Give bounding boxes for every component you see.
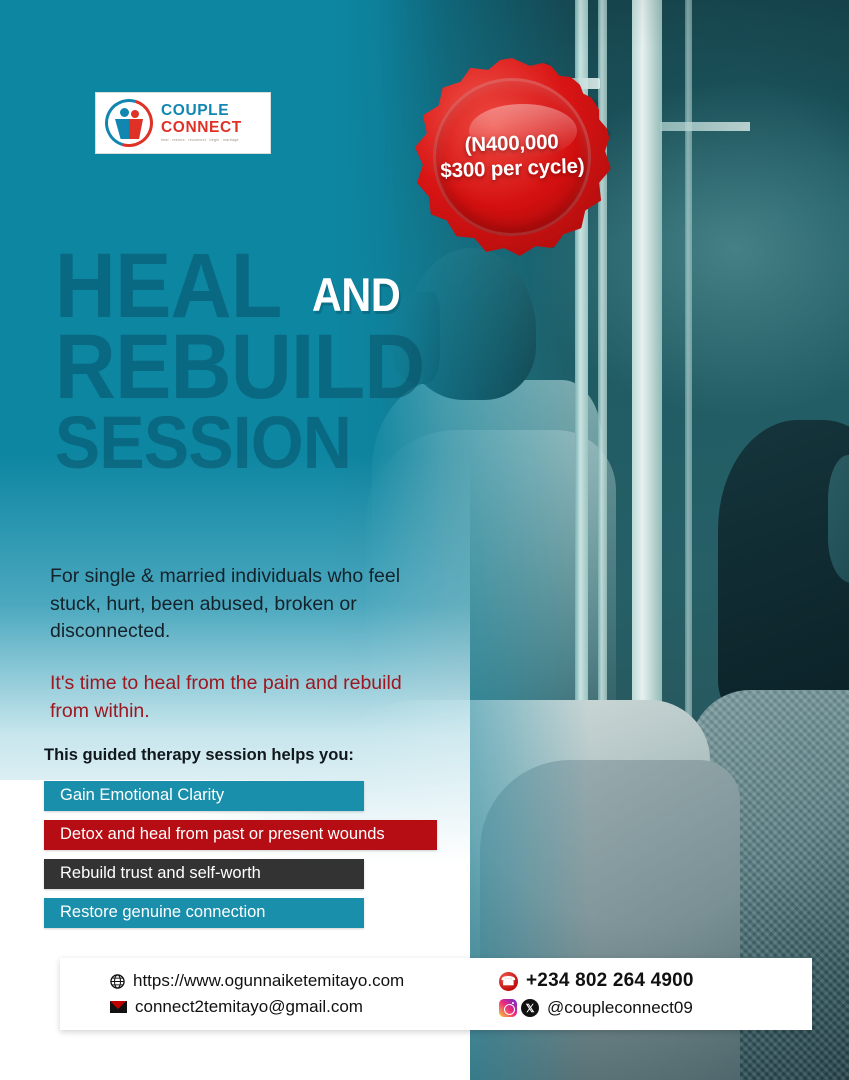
- price-seal-badge: (N400,000 $300 per cycle): [413, 58, 611, 256]
- contact-column-left: https://www.ogunnaiketemitayo.com connec…: [110, 971, 485, 1017]
- logo-tagline: heal . restore . reconnect . begin . mar…: [161, 139, 242, 143]
- logo-head-left-icon: [120, 108, 129, 117]
- website-row[interactable]: https://www.ogunnaiketemitayo.com: [110, 971, 485, 991]
- benefit-item: Restore genuine connection: [44, 898, 364, 928]
- logo-line-2: CONNECT: [161, 120, 242, 136]
- headline-word-and: AND: [312, 274, 400, 316]
- mail-icon: [110, 1001, 127, 1013]
- headline-word-rebuild: REBUILD: [52, 324, 420, 403]
- phone-row[interactable]: +234 802 264 4900: [499, 970, 694, 992]
- call-to-heal-paragraph: It's time to heal from the pain and rebu…: [50, 670, 410, 725]
- poster-canvas: COUPLE CONNECT heal . restore . reconnec…: [0, 0, 849, 1080]
- instagram-icon[interactable]: [499, 999, 517, 1017]
- benefits-title: This guided therapy session helps you:: [44, 746, 464, 765]
- benefit-item: Rebuild trust and self-worth: [44, 859, 364, 889]
- headline-word-heal: HEAL: [52, 243, 279, 322]
- headline-row-1: HEAL AND: [52, 243, 452, 322]
- benefit-item: Gain Emotional Clarity: [44, 781, 364, 811]
- contact-footer-bar: https://www.ogunnaiketemitayo.com connec…: [60, 958, 812, 1030]
- email-address: connect2temitayo@gmail.com: [135, 997, 363, 1017]
- benefits-block: This guided therapy session helps you: G…: [44, 746, 464, 937]
- couple-connect-logo[interactable]: COUPLE CONNECT heal . restore . reconnec…: [95, 92, 271, 154]
- social-icons: 𝕏: [499, 999, 539, 1017]
- whatsapp-phone-icon: [499, 972, 518, 991]
- seal-inner-disc: (N400,000 $300 per cycle): [433, 78, 591, 236]
- logo-line-1: COUPLE: [161, 103, 242, 119]
- headline-word-session: SESSION: [52, 407, 420, 471]
- benefit-item: Detox and heal from past or present woun…: [44, 820, 437, 850]
- logo-mark-icon: [104, 98, 154, 148]
- intro-paragraph: For single & married individuals who fee…: [50, 563, 410, 646]
- seal-price-text: (N400,000 $300 per cycle): [439, 130, 585, 184]
- email-row[interactable]: connect2temitayo@gmail.com: [110, 997, 485, 1017]
- globe-icon: [110, 974, 125, 989]
- website-url: https://www.ogunnaiketemitayo.com: [133, 971, 404, 991]
- body-copy-block: For single & married individuals who fee…: [50, 563, 410, 725]
- x-twitter-icon[interactable]: 𝕏: [521, 999, 539, 1017]
- logo-head-right-icon: [131, 110, 139, 118]
- contact-column-right: +234 802 264 4900 𝕏 @coupleconnect09: [499, 970, 694, 1018]
- logo-wordmark: COUPLE CONNECT heal . restore . reconnec…: [161, 103, 242, 143]
- seal-price-line-2: $300 per cycle): [440, 154, 585, 184]
- social-row[interactable]: 𝕏 @coupleconnect09: [499, 998, 694, 1018]
- social-handle: @coupleconnect09: [547, 998, 693, 1018]
- headline-block: HEAL AND REBUILD SESSION: [52, 243, 452, 471]
- phone-number: +234 802 264 4900: [526, 970, 694, 992]
